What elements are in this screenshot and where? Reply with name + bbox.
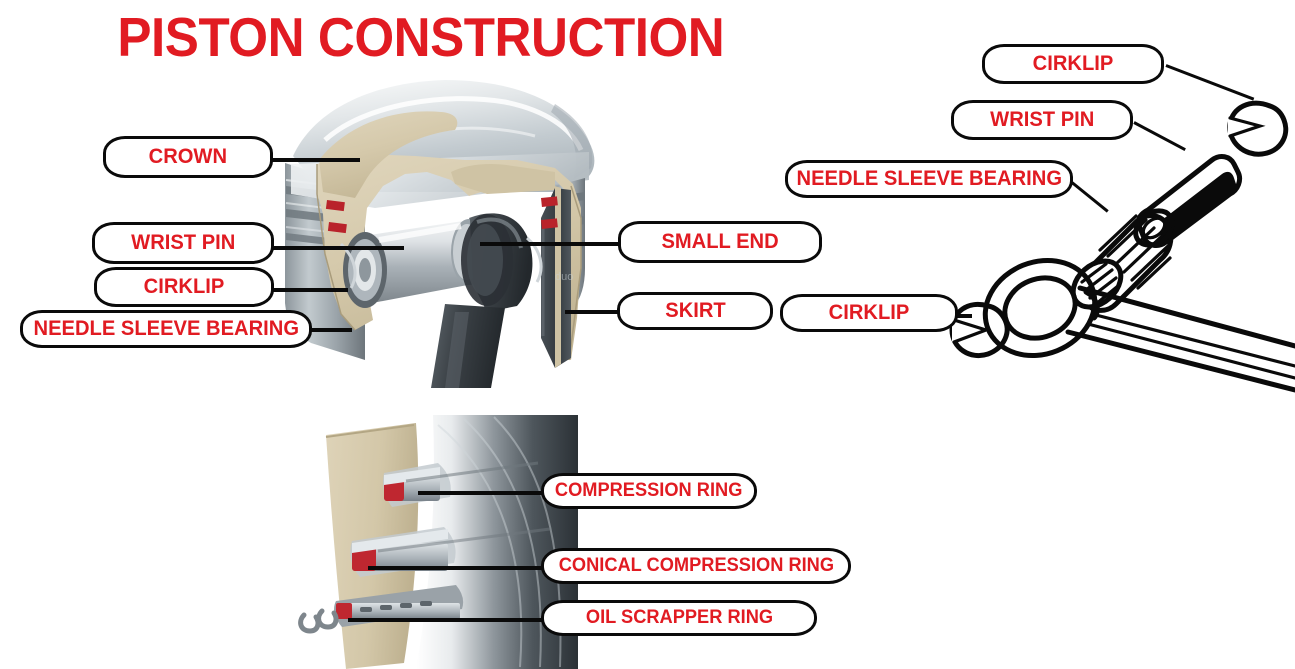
leader-wrist-pin: [262, 246, 404, 250]
svg-text:duo: duo: [555, 271, 573, 283]
label-cirklip-text: CIRKLIP: [144, 275, 225, 299]
label-needle-sleeve-bearing[interactable]: NEEDLE SLEEVE BEARING: [20, 310, 312, 348]
leader-oil-scrapper-ring: [348, 618, 544, 622]
label-cirklip-bottom[interactable]: CIRKLIP: [780, 294, 958, 332]
label-wrist-pin-exploded[interactable]: WRIST PIN: [951, 100, 1133, 140]
diagram-canvas: PISTON CONSTRUCTION: [0, 0, 1295, 669]
label-oil-scrapper-ring-text: OIL SCRAPPER RING: [585, 607, 772, 629]
label-compression-ring[interactable]: COMPRESSION RING: [541, 473, 757, 509]
page-title: PISTON CONSTRUCTION: [100, 4, 742, 70]
label-needle-sleeve-bearing-exploded[interactable]: NEEDLE SLEEVE BEARING: [785, 160, 1073, 198]
label-cirklip[interactable]: CIRKLIP: [94, 267, 274, 307]
connecting-rod-art: [971, 244, 1295, 390]
label-wrist-pin-text: WRIST PIN: [131, 231, 235, 255]
circlip-bottom-art: [952, 304, 1007, 355]
label-crown-text: CROWN: [149, 145, 227, 169]
label-skirt-text: SKIRT: [665, 299, 725, 323]
label-skirt[interactable]: SKIRT: [617, 292, 773, 330]
label-wrist-pin-exploded-text: WRIST PIN: [990, 108, 1094, 132]
circlip-top-art: [1228, 103, 1286, 154]
label-small-end-text: SMALL END: [661, 230, 778, 254]
label-cirklip-bottom-text: CIRKLIP: [829, 301, 910, 325]
piston-cutaway-photo: duo: [255, 68, 625, 388]
leader-small-end: [480, 242, 626, 246]
label-wrist-pin[interactable]: WRIST PIN: [92, 222, 274, 264]
piston-ring-detail-photo: [288, 415, 578, 669]
label-conical-compression-ring-text: CONICAL COMPRESSION RING: [558, 555, 833, 577]
label-oil-scrapper-ring[interactable]: OIL SCRAPPER RING: [541, 600, 817, 636]
label-needle-sleeve-bearing-exploded-text: NEEDLE SLEEVE BEARING: [796, 167, 1062, 191]
label-needle-sleeve-bearing-text: NEEDLE SLEEVE BEARING: [33, 317, 299, 341]
label-compression-ring-text: COMPRESSION RING: [555, 480, 743, 502]
leader-cirklip: [262, 288, 348, 292]
leader-conical-compression-ring: [368, 566, 544, 570]
label-conical-compression-ring[interactable]: CONICAL COMPRESSION RING: [541, 548, 851, 584]
label-crown[interactable]: CROWN: [103, 136, 273, 178]
label-cirklip-top-text: CIRKLIP: [1033, 52, 1114, 76]
leader-crown: [262, 158, 360, 162]
leader-compression-ring: [418, 491, 544, 495]
label-small-end[interactable]: SMALL END: [618, 221, 822, 263]
label-cirklip-top[interactable]: CIRKLIP: [982, 44, 1164, 84]
